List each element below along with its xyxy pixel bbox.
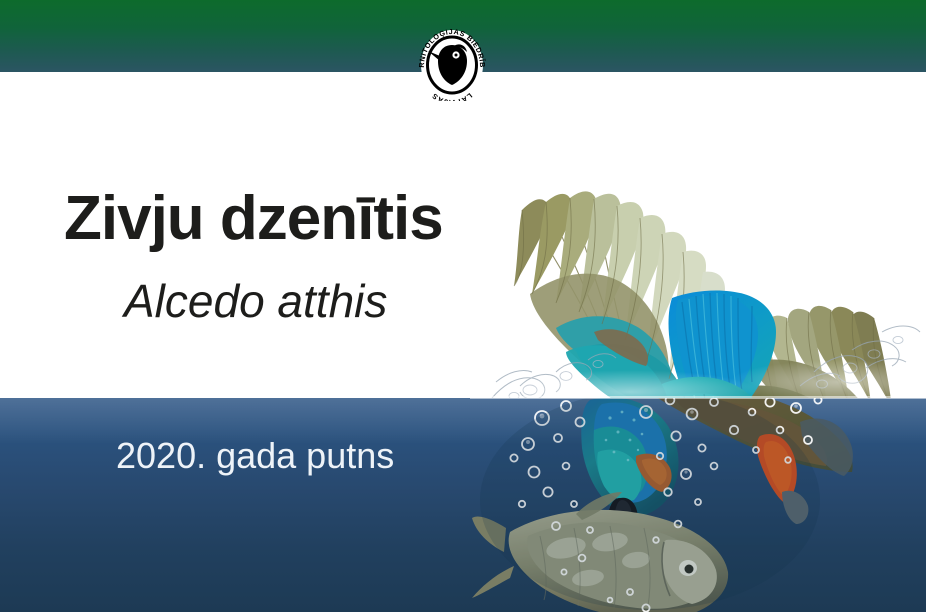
page-title: Zivju dzenītis	[64, 188, 443, 250]
poster-canvas: ORNITOLOĢIJAS BIEDRĪBA LATVIJAS	[0, 0, 926, 612]
year-of-the-bird-caption: 2020. gada putns	[116, 438, 394, 474]
scientific-name: Alcedo atthis	[124, 278, 387, 324]
diving-kingfisher-illustration	[470, 100, 926, 612]
organisation-logo: ORNITOLOĢIJAS BIEDRĪBA LATVIJAS	[412, 29, 492, 101]
